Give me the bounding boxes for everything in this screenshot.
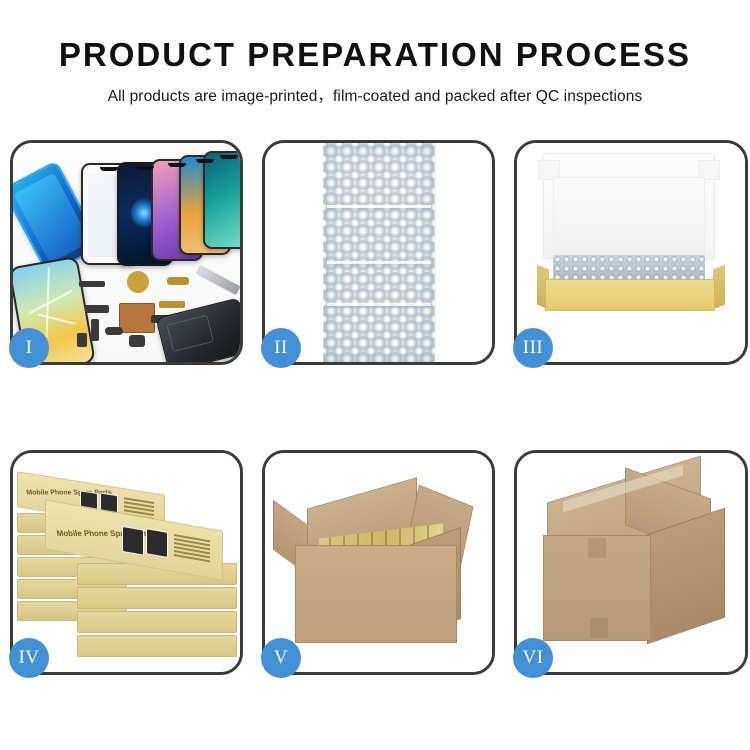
step-badge-6: VI <box>513 638 553 678</box>
step-panel-3: III <box>514 140 748 365</box>
step-badge-1: I <box>9 328 49 368</box>
tweezers-icon <box>195 265 240 295</box>
step-panel-1: I <box>10 140 243 365</box>
carton-seam-tab-top <box>588 538 606 558</box>
notch-icon <box>168 163 186 167</box>
step-badge-4: IV <box>9 638 49 678</box>
step-image-phone-parts <box>13 143 240 362</box>
part-small-module <box>105 327 123 335</box>
notch-icon <box>136 166 154 170</box>
notch-icon <box>196 159 214 163</box>
part-sim-tray <box>77 333 87 347</box>
box-screen-image <box>146 528 168 558</box>
notch-icon <box>100 167 118 171</box>
step-numeral: VI <box>522 647 543 669</box>
box-spec-lines <box>174 534 210 564</box>
notch-icon <box>220 155 238 159</box>
wrap-seam <box>327 261 431 264</box>
step-image-sealed-carton <box>517 453 745 672</box>
phone-teal-wallpaper-icon <box>203 151 240 249</box>
carton-front-panel <box>543 535 651 641</box>
step-panel-5: V <box>262 450 495 675</box>
step-image-open-kraft-box <box>517 143 745 362</box>
step-badge-3: III <box>513 328 553 368</box>
step-panel-2: II <box>262 140 495 365</box>
step-panel-6: VI <box>514 450 748 675</box>
stacked-box-side <box>77 635 237 657</box>
header: PRODUCT PREPARATION PROCESS All products… <box>0 0 750 106</box>
step-image-open-carton <box>265 453 492 672</box>
carton-seam-tab-bottom <box>590 618 608 638</box>
step-numeral: IV <box>18 647 39 669</box>
stacked-box-side <box>77 611 237 633</box>
part-flex-ribbon <box>159 301 185 308</box>
step-image-stacked-boxes: Mobile Phone Spare Parts Mobile <box>13 453 240 672</box>
box-screen-image <box>122 526 144 556</box>
step-numeral: II <box>274 337 288 359</box>
phone-fan-group <box>19 151 240 271</box>
bubble-wrapped-contents <box>553 255 705 281</box>
step-image-bubble-wrap <box>265 143 492 362</box>
steps-grid: I II <box>10 140 740 675</box>
crack-line <box>38 314 75 325</box>
step-numeral: III <box>523 337 543 359</box>
part-vibration-motor <box>127 271 149 293</box>
part-button-flex <box>91 319 99 341</box>
part-chip-array <box>119 303 155 333</box>
wrap-seam <box>327 303 431 306</box>
page-title: PRODUCT PREPARATION PROCESS <box>0 38 750 73</box>
carton-front <box>295 545 457 643</box>
step-panel-4: Mobile Phone Spare Parts Mobile <box>10 450 243 675</box>
product-preparation-infographic: PRODUCT PREPARATION PROCESS All products… <box>0 0 750 750</box>
part-connector <box>85 305 109 313</box>
box-front-panel <box>545 279 715 311</box>
spare-parts-group <box>75 269 240 361</box>
page-subtitle: All products are image-printed，film-coat… <box>0 84 750 106</box>
wrap-seam <box>327 205 431 208</box>
step-badge-5: V <box>261 638 301 678</box>
part-camera-module <box>129 335 145 347</box>
step-badge-2: II <box>261 328 301 368</box>
stacked-box-side <box>77 587 237 609</box>
part-speaker-bar <box>79 281 105 287</box>
kraft-box-stack: Mobile Phone Spare Parts Mobile <box>17 467 240 667</box>
part-flex-cable <box>167 277 189 285</box>
bubble-wrap-icon <box>323 143 435 362</box>
step-numeral: V <box>274 647 288 669</box>
box-inner-panel <box>553 177 705 259</box>
crack-line <box>29 290 72 314</box>
step-numeral: I <box>26 337 33 359</box>
